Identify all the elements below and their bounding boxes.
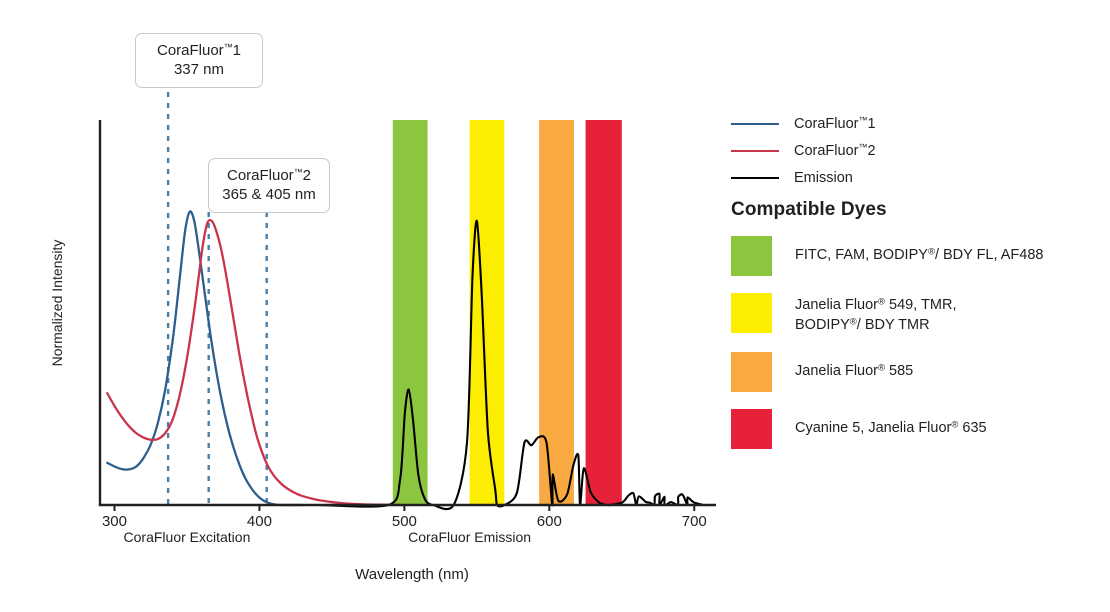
compatible-dyes-list: FITC, FAM, BODIPY®/ BDY FL, AF488Janelia… xyxy=(731,236,1101,466)
red-band xyxy=(586,120,622,505)
legend-row: CoraFluor™2 xyxy=(731,137,1091,164)
orange-band xyxy=(539,120,574,505)
dye-row: FITC, FAM, BODIPY®/ BDY FL, AF488 xyxy=(731,236,1101,276)
dye-label: Cyanine 5, Janelia Fluor® 635 xyxy=(795,409,987,438)
curve-corafluor-2 xyxy=(107,220,404,505)
registered-symbol: ® xyxy=(928,246,935,257)
legend-row: CoraFluor™1 xyxy=(731,110,1091,137)
dye-label-line1: Cyanine 5, Janelia Fluor® 635 xyxy=(795,418,987,438)
x-axis-emission-label: CoraFluor Emission xyxy=(360,529,580,545)
legend-label-index: 1 xyxy=(867,116,875,132)
x-tick-label-400: 400 xyxy=(229,513,289,530)
dye-row: Janelia Fluor® 585 xyxy=(731,352,1101,392)
x-tick-label-500: 500 xyxy=(374,513,434,530)
callout-cf1-title: CoraFluor™1 xyxy=(146,41,252,60)
series-legend: CoraFluor™1CoraFluor™2Emission xyxy=(731,110,1091,191)
callout-cf2-value: 365 & 405 nm xyxy=(219,185,319,204)
legend-label-text: CoraFluor xyxy=(794,143,858,159)
dye-label-line1: Janelia Fluor® 549, TMR, xyxy=(795,295,956,315)
green-band xyxy=(393,120,428,505)
legend-label: Emission xyxy=(794,170,853,186)
legend-line-swatch xyxy=(731,177,779,179)
dye-row: Janelia Fluor® 549, TMR,BODIPY®/ BDY TMR xyxy=(731,293,1101,335)
dye-color-swatch xyxy=(731,352,772,392)
registered-symbol: ® xyxy=(878,296,885,307)
compatible-dyes-heading: Compatible Dyes xyxy=(731,199,887,221)
y-axis-title: Normalized Intensity xyxy=(49,213,65,393)
trademark-symbol: ™ xyxy=(294,167,303,177)
yellow-band xyxy=(470,120,505,505)
dye-label: FITC, FAM, BODIPY®/ BDY FL, AF488 xyxy=(795,236,1043,265)
x-tick-label-300: 300 xyxy=(84,513,144,530)
dye-color-swatch xyxy=(731,293,772,333)
dye-label: Janelia Fluor® 549, TMR,BODIPY®/ BDY TMR xyxy=(795,293,956,335)
x-axis-title: Wavelength (nm) xyxy=(0,566,824,583)
callout-corafluor-2: CoraFluor™2 365 & 405 nm xyxy=(208,158,330,213)
x-tick-label-700: 700 xyxy=(664,513,724,530)
dye-label: Janelia Fluor® 585 xyxy=(795,352,913,381)
registered-symbol: ® xyxy=(850,316,857,327)
x-tick-label-600: 600 xyxy=(519,513,579,530)
callout-corafluor-1: CoraFluor™1 337 nm xyxy=(135,33,263,88)
dye-label-line2: BODIPY®/ BDY TMR xyxy=(795,315,956,335)
dye-row: Cyanine 5, Janelia Fluor® 635 xyxy=(731,409,1101,449)
dye-color-swatch xyxy=(731,236,772,276)
curve-corafluor-1 xyxy=(107,211,303,505)
legend-label: CoraFluor™1 xyxy=(794,115,876,132)
registered-symbol: ® xyxy=(951,419,958,430)
legend-line-swatch xyxy=(731,123,779,125)
x-axis-excitation-label: CoraFluor Excitation xyxy=(77,529,297,545)
curve-emission xyxy=(317,221,710,509)
registered-symbol: ® xyxy=(878,362,885,373)
legend-line-swatch xyxy=(731,150,779,152)
legend-label: CoraFluor™2 xyxy=(794,142,876,159)
legend-row: Emission xyxy=(731,164,1091,191)
dye-label-line1: FITC, FAM, BODIPY®/ BDY FL, AF488 xyxy=(795,245,1043,265)
dye-color-swatch xyxy=(731,409,772,449)
legend-label-index: 2 xyxy=(867,143,875,159)
spectra-figure: CoraFluor™1 337 nm CoraFluor™2 365 & 405… xyxy=(0,0,1110,612)
callout-cf2-title: CoraFluor™2 xyxy=(219,166,319,185)
callout-cf1-value: 337 nm xyxy=(146,60,252,79)
legend-label-text: CoraFluor xyxy=(794,116,858,132)
trademark-symbol: ™ xyxy=(224,42,233,52)
dye-label-line1: Janelia Fluor® 585 xyxy=(795,361,913,381)
